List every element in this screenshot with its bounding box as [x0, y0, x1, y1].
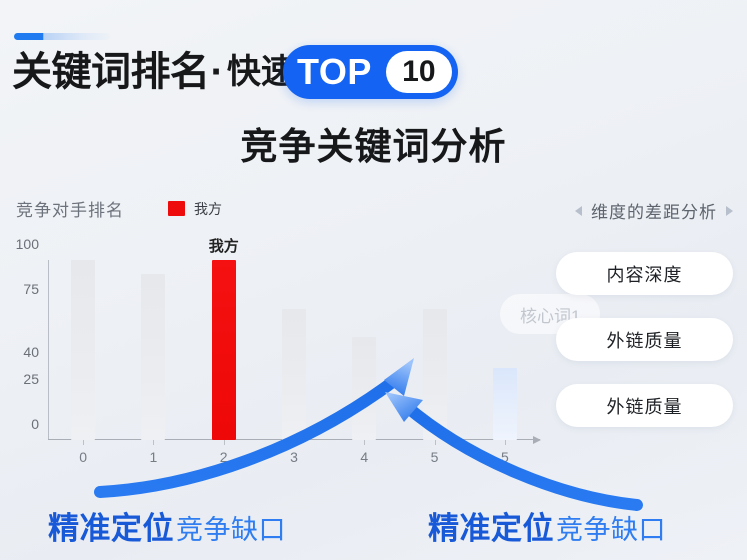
page-subtitle: 竞争关键词分析 — [0, 116, 747, 170]
y-axis-tick-label: 40 — [23, 344, 39, 360]
x-axis-tick-mark — [505, 440, 506, 445]
chevron-left-icon — [575, 206, 582, 216]
headline-separator-dot: · — [211, 50, 224, 95]
y-axis-tick-label: 75 — [23, 281, 39, 297]
legend-color-swatch — [168, 201, 185, 216]
slide-canvas: 关键词排名 · 快速 TOP 10 竞争关键词分析 竞争对手排名 我方 维度的差… — [0, 0, 747, 560]
badge-value-pill: 10 — [386, 51, 452, 93]
x-axis-tick-mark — [364, 440, 365, 445]
x-axis-tick-label: 2 — [220, 449, 228, 465]
caption-right-strong: 精准定位 — [428, 503, 554, 548]
dimension-card-label: 外链质量 — [607, 393, 683, 419]
badge-top-label: TOP — [297, 54, 372, 90]
caption-left-weak: 竞争缺口 — [176, 508, 286, 547]
x-axis-tick-mark — [224, 440, 225, 445]
x-axis-arrow-icon — [533, 436, 541, 444]
y-axis-line — [48, 260, 49, 440]
dimension-card[interactable]: 外链质量 — [556, 318, 733, 361]
dimension-card-label: 内容深度 — [607, 261, 683, 287]
chart-bar — [71, 260, 95, 440]
y-axis-tick-label: 100 — [16, 236, 39, 252]
chart-plot-area: 1007540250 0123455 我方 — [48, 260, 540, 440]
page-title: 关键词排名 · 快速 — [12, 44, 295, 100]
dimension-section-label: 维度的差距分析 — [591, 198, 717, 223]
badge-value-text: 10 — [402, 57, 435, 87]
chart-bar — [141, 274, 165, 440]
x-axis-tick-label: 4 — [360, 449, 368, 465]
x-axis-tick-label: 3 — [290, 449, 298, 465]
chart-bar — [352, 337, 376, 440]
competitor-bar-chart: 1007540250 0123455 我方 — [8, 248, 548, 478]
x-axis-tick-mark — [83, 440, 84, 445]
legend-series-label: 我方 — [194, 199, 222, 219]
caption-right: 精准定位 竞争缺口 — [428, 503, 666, 548]
caption-left-strong: 精准定位 — [48, 503, 174, 548]
x-axis-tick-mark — [294, 440, 295, 445]
x-axis-tick-mark — [435, 440, 436, 445]
chart-bar — [282, 309, 306, 440]
dimension-card[interactable]: 内容深度 — [556, 252, 733, 295]
dimension-card-list: 内容深度外链质量外链质量 — [556, 252, 733, 427]
x-axis-tick-label: 0 — [79, 449, 87, 465]
caption-left: 精准定位 竞争缺口 — [48, 503, 286, 548]
chart-legend-title: 竞争对手排名 — [16, 196, 124, 221]
mine-bar-annotation: 我方 — [209, 235, 239, 256]
chart-legend: 竞争对手排名 我方 — [16, 196, 222, 221]
caption-right-weak: 竞争缺口 — [556, 508, 666, 547]
y-axis-tick-label: 25 — [23, 371, 39, 387]
dimension-section-header: 维度的差距分析 — [575, 198, 733, 223]
y-axis-tick-label: 0 — [31, 416, 39, 432]
chart-bar — [493, 368, 517, 440]
x-axis-tick-label: 1 — [150, 449, 158, 465]
headline-main-text: 关键词排名 — [12, 52, 210, 92]
top-rank-badge: TOP 10 — [283, 45, 458, 99]
legend-series-item: 我方 — [168, 199, 222, 219]
dimension-card[interactable]: 外链质量 — [556, 384, 733, 427]
x-axis-tick-label: 5 — [431, 449, 439, 465]
chart-bar — [212, 260, 236, 440]
chevron-right-icon — [726, 206, 733, 216]
x-axis-tick-label: 5 — [501, 449, 509, 465]
dimension-card-label: 外链质量 — [607, 327, 683, 353]
chart-bar — [423, 309, 447, 440]
accent-progress-bar — [14, 33, 110, 40]
x-axis-tick-mark — [153, 440, 154, 445]
